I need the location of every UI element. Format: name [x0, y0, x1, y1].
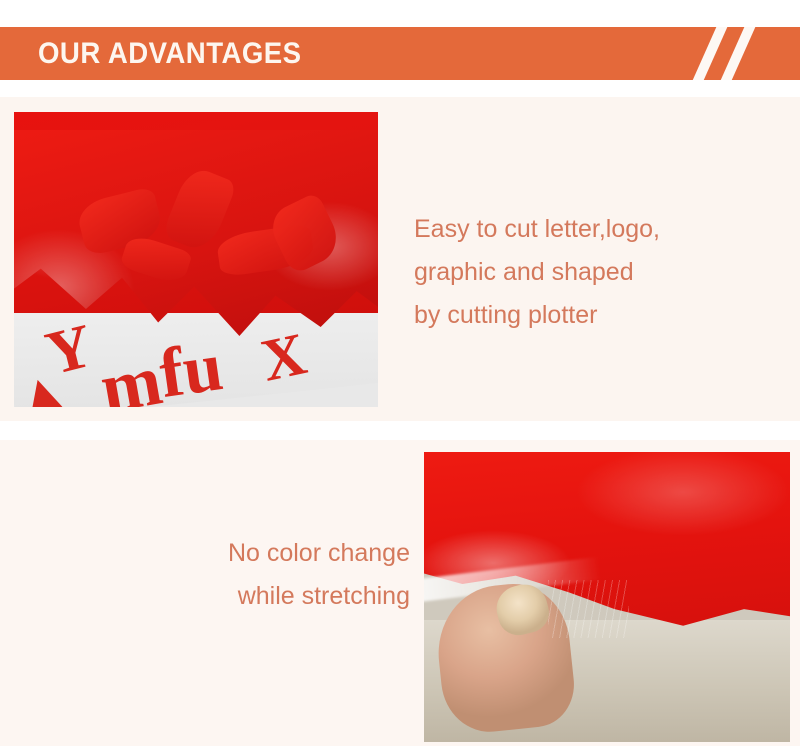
red-vinyl-weeded-letters-photo: ▲ Y m fu X — [14, 112, 378, 407]
panel-cutting-line-1: Easy to cut letter,logo, — [414, 208, 744, 251]
panel-cutting-line-3: by cutting plotter — [414, 294, 744, 337]
hand-stretching-red-film-photo — [424, 452, 790, 742]
panel-cutting-text: Easy to cut letter,logo, graphic and sha… — [414, 208, 744, 337]
panel-stretching-line-1: No color change — [160, 532, 410, 575]
panel-stretching-text: No color change while stretching — [160, 532, 410, 618]
panel-cutting-line-2: graphic and shaped — [414, 251, 744, 294]
page-title: OUR ADVANTAGES — [38, 37, 302, 71]
page-header-banner: OUR ADVANTAGES — [0, 27, 800, 80]
film-stretch-pleats — [548, 580, 629, 638]
cut-letter-glyph: fu — [155, 332, 226, 407]
panel-stretching-line-2: while stretching — [160, 575, 410, 618]
